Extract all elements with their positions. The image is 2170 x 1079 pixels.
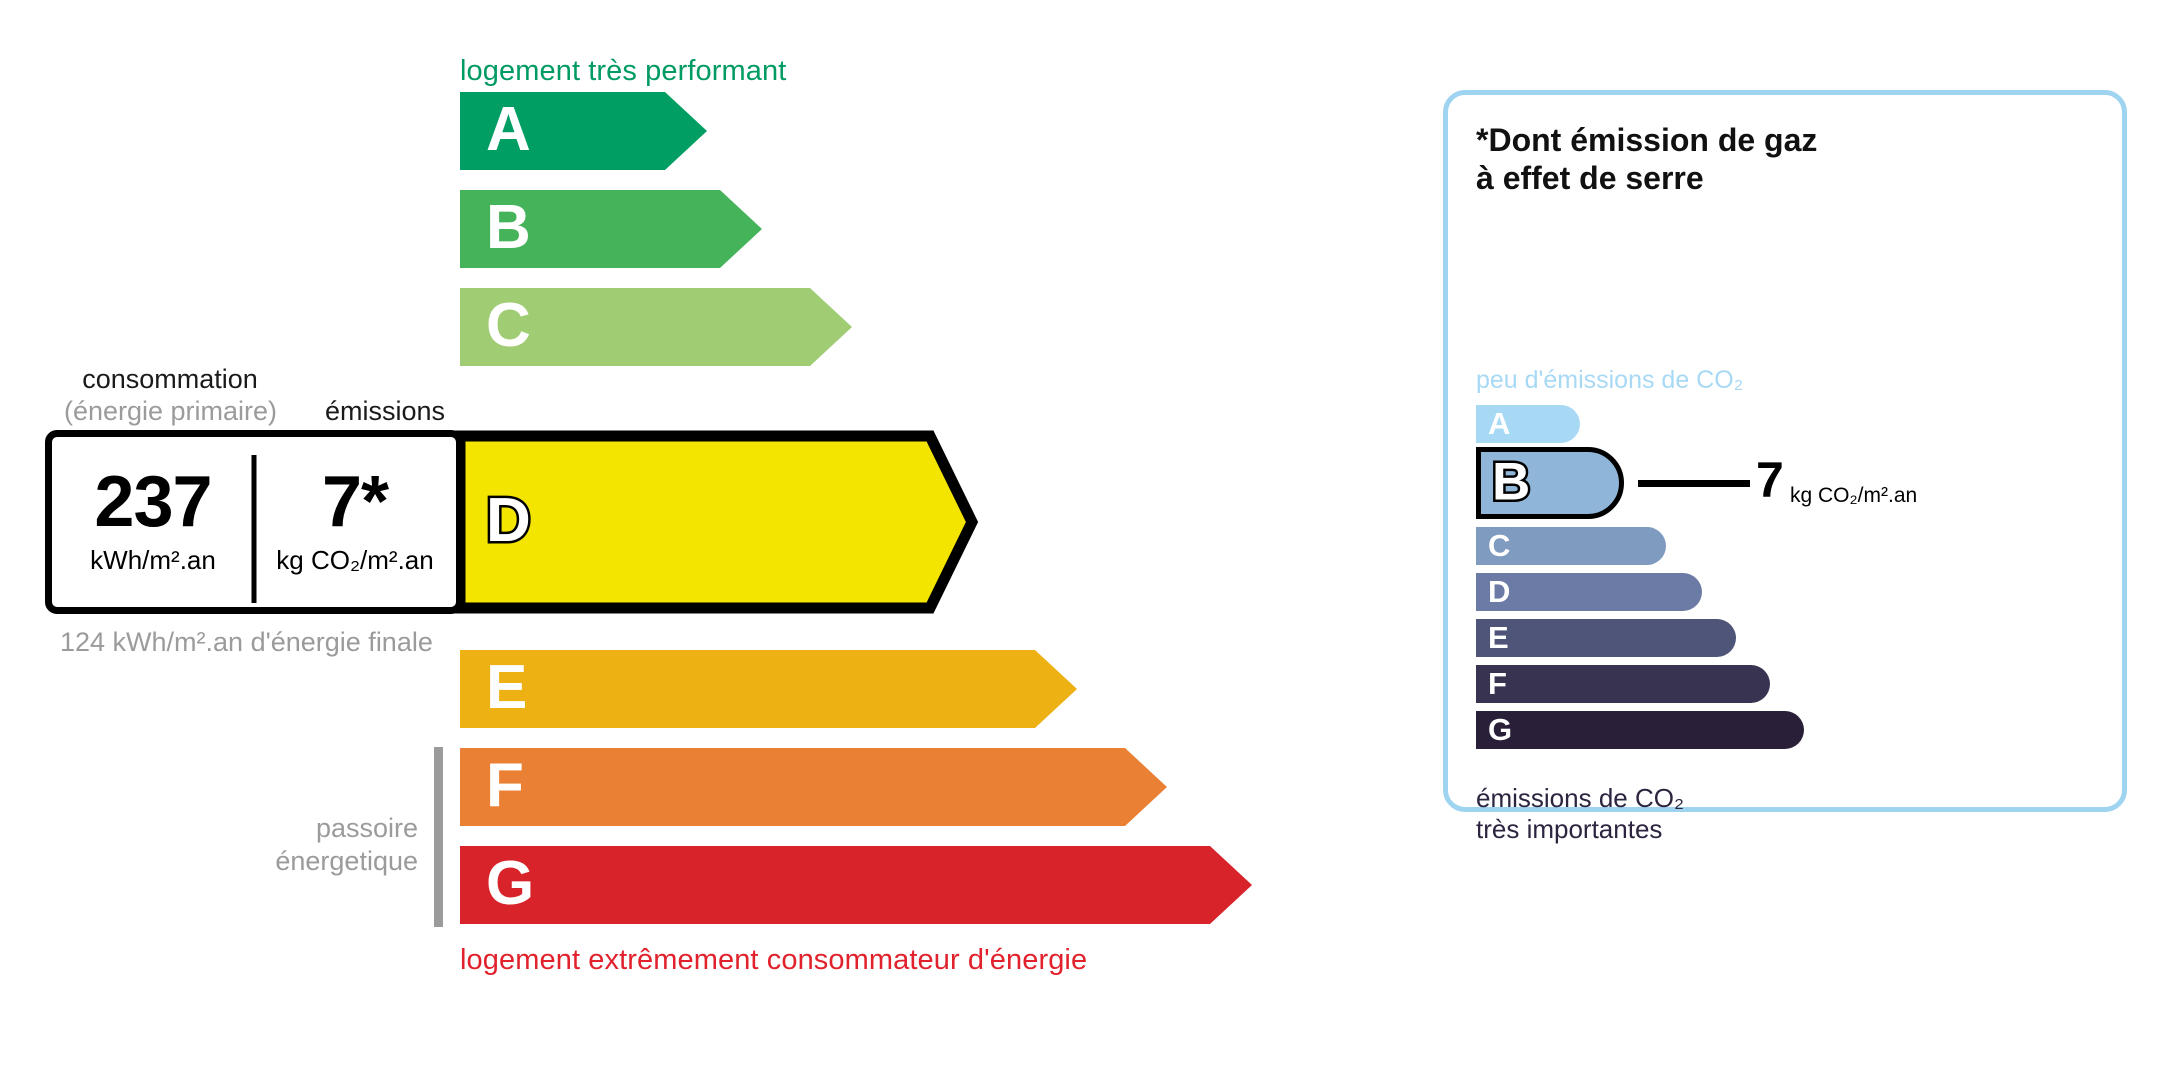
passoire-indicator-bar [434,747,443,927]
co2-bar-d: D [1476,573,1702,611]
value-box: 237 kWh/m².an 7* kg CO₂/m².an [45,430,463,614]
energy-bar-letter-a: A [486,99,531,161]
energy-bar-shape-e [460,650,1077,728]
energy-scale-bottom-caption: logement extrêmement consommateur d'éner… [460,944,1087,977]
energy-bar-shape-g [460,846,1252,924]
co2-bar-letter-g: G [1488,714,1512,745]
co2-bar-g: G [1476,711,1804,749]
passoire-label: passoire énergetique [190,812,418,878]
co2-top-caption: peu d'émissions de CO₂ [1476,366,1743,395]
co2-panel: *Dont émission de gaz à effet de serre p… [1443,90,2127,812]
co2-bar-e: E [1476,619,1736,657]
co2-bar-letter-d: D [1488,576,1510,607]
consumption-unit: kWh/m².an [90,545,216,576]
co2-bar-fill-e [1476,619,1736,657]
emissions-unit: kg CO₂/m².an [276,545,433,576]
consumption-label: consommation [50,364,290,395]
energy-bar-letter-b: B [486,197,531,259]
emissions-value: 7* [322,468,388,536]
co2-callout-value: 7 [1756,455,1784,505]
co2-panel-title: *Dont émission de gaz à effet de serre [1476,121,1817,198]
co2-bar-letter-c: C [1488,530,1510,561]
co2-bar-letter-f: F [1488,668,1507,699]
energy-bar-shape-f [460,748,1167,826]
co2-bar-letter-a: A [1488,408,1510,439]
co2-bar-fill-f [1476,665,1770,703]
co2-bottom-caption: émissions de CO₂ très importantes [1476,783,1684,845]
co2-bar-letter-e: E [1488,622,1509,653]
co2-bar-c: C [1476,527,1666,565]
energy-bar-letter-d: D [486,490,531,552]
emissions-label: émissions [290,396,480,427]
co2-bar-b: B [1476,447,1624,519]
energy-bar-letter-f: F [486,755,524,817]
energy-bar-letter-e: E [486,657,527,719]
co2-bar-f: F [1476,665,1770,703]
co2-callout-leader-line [1638,480,1750,487]
final-energy-note: 124 kWh/m².an d'énergie finale [60,626,433,659]
co2-callout-unit: kg CO₂/m².an [1790,485,1917,506]
consumption-value-cell: 237 kWh/m².an [52,437,254,607]
emissions-value-cell: 7* kg CO₂/m².an [254,437,456,607]
co2-bar-a: A [1476,405,1580,443]
co2-bar-letter-b: B [1492,455,1530,508]
energy-scale-top-caption: logement très performant [460,55,786,88]
energy-bar-letter-c: C [486,295,531,357]
energy-bar-letter-g: G [486,853,534,915]
consumption-value: 237 [94,468,211,536]
dpe-energy-label: logement très performant ABCDEFG consomm… [0,0,2170,1079]
consumption-sublabel: (énergie primaire) [38,396,303,427]
co2-bar-fill-g [1476,711,1804,749]
energy-bar-shape-d [454,430,978,614]
